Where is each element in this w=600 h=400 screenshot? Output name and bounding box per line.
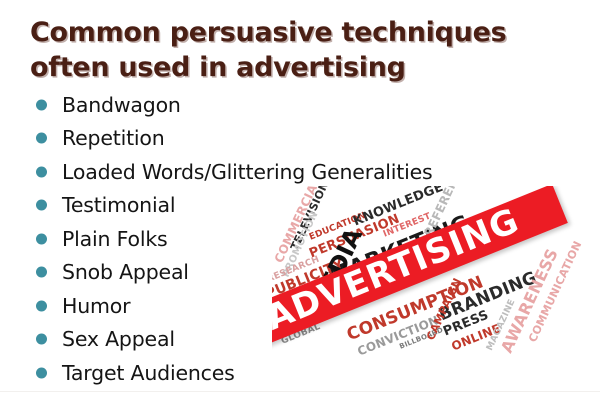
list-item: Repetition <box>34 122 564 156</box>
bullet-dot-icon <box>36 133 47 144</box>
list-item: Target Audiences <box>34 356 564 390</box>
bullet-dot-icon <box>36 233 47 244</box>
bullet-dot-icon <box>36 334 47 345</box>
slide-canvas: Common persuasive techniques often used … <box>0 0 600 400</box>
list-item-label: Bandwagon <box>62 93 181 117</box>
list-item-label: Target Audiences <box>62 361 235 385</box>
bullet-dot-icon <box>36 300 47 311</box>
list-item: Bandwagon <box>34 88 564 122</box>
list-item-label: Repetition <box>62 126 165 150</box>
title-line-2: often used in advertising <box>30 51 550 86</box>
title-line-1: Common persuasive techniques <box>30 16 550 51</box>
advertising-word-cloud-image: TELEVISION COMMERCIAL PROMOTION EDUCATIO… <box>272 186 600 358</box>
list-item-label: Plain Folks <box>62 227 167 251</box>
list-item-label: Sex Appeal <box>62 327 175 351</box>
list-item: Loaded Words/Glittering Generalities <box>34 155 564 189</box>
bullet-dot-icon <box>36 166 47 177</box>
bottom-divider <box>0 391 600 392</box>
list-item-label: Testimonial <box>62 193 175 217</box>
bullet-dot-icon <box>36 367 47 378</box>
page-title: Common persuasive techniques often used … <box>30 16 550 85</box>
list-item-label: Snob Appeal <box>62 260 189 284</box>
list-item-label: Humor <box>62 294 130 318</box>
bullet-dot-icon <box>36 267 47 278</box>
bullet-dot-icon <box>36 99 47 110</box>
bullet-dot-icon <box>36 200 47 211</box>
list-item-label: Loaded Words/Glittering Generalities <box>62 160 433 184</box>
